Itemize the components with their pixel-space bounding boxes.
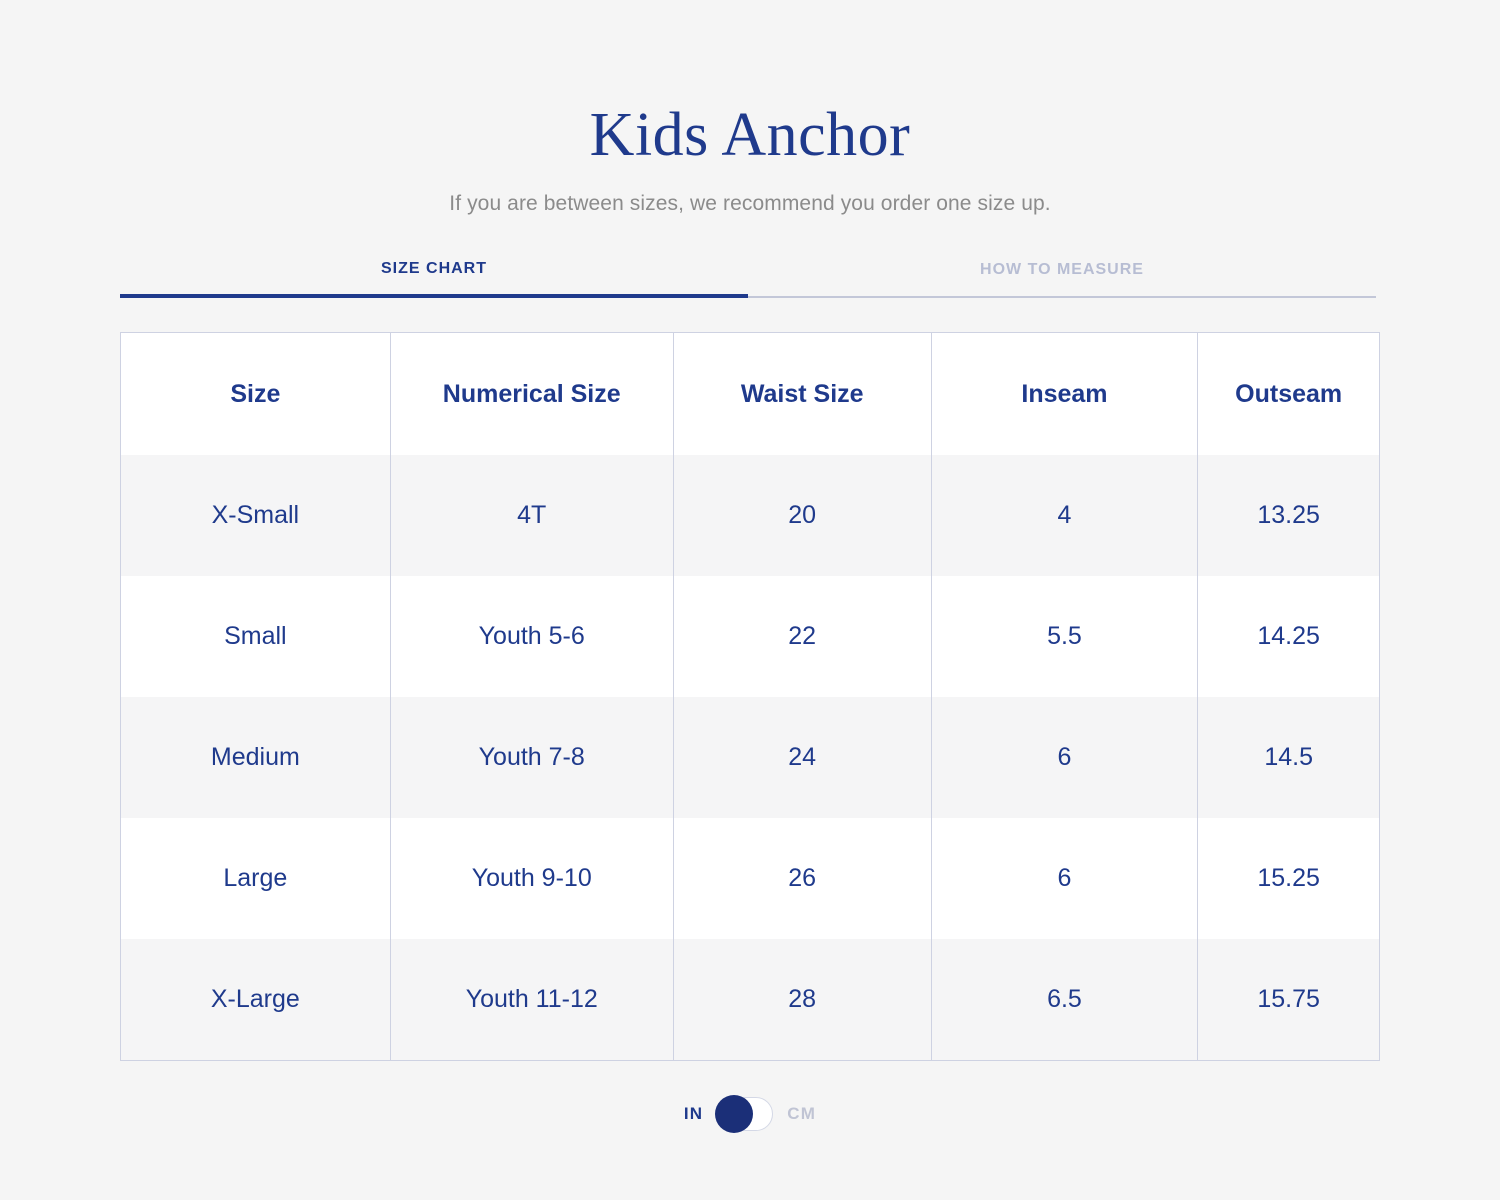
- column-header-size: Size: [121, 333, 390, 455]
- cell-inseam: 5.5: [931, 576, 1198, 697]
- cell-outseam: 15.75: [1198, 939, 1379, 1060]
- cell-size: Medium: [121, 697, 390, 818]
- column-header-waist-size: Waist Size: [673, 333, 931, 455]
- cell-waist-size: 20: [673, 455, 931, 576]
- table-head: Size Numerical Size Waist Size Inseam Ou…: [121, 333, 1379, 455]
- column-header-outseam: Outseam: [1198, 333, 1379, 455]
- toggle-knob-icon: [715, 1095, 753, 1133]
- cell-numerical-size: Youth 9-10: [390, 818, 673, 939]
- page-subtitle: If you are between sizes, we recommend y…: [0, 192, 1500, 216]
- cell-numerical-size: 4T: [390, 455, 673, 576]
- cell-waist-size: 28: [673, 939, 931, 1060]
- cell-outseam: 13.25: [1198, 455, 1379, 576]
- table-row: Large Youth 9-10 26 6 15.25: [121, 818, 1379, 939]
- cell-outseam: 14.5: [1198, 697, 1379, 818]
- unit-label-centimeters[interactable]: CM: [787, 1104, 816, 1124]
- page-header: Kids Anchor If you are between sizes, we…: [0, 0, 1500, 216]
- cell-numerical-size: Youth 5-6: [390, 576, 673, 697]
- page-title: Kids Anchor: [0, 104, 1500, 166]
- cell-inseam: 6: [931, 697, 1198, 818]
- tab-how-to-measure[interactable]: HOW TO MEASURE: [748, 261, 1376, 298]
- cell-inseam: 6: [931, 818, 1198, 939]
- cell-waist-size: 22: [673, 576, 931, 697]
- cell-inseam: 4: [931, 455, 1198, 576]
- size-chart-table-container: Size Numerical Size Waist Size Inseam Ou…: [120, 332, 1380, 1061]
- cell-waist-size: 24: [673, 697, 931, 818]
- size-chart-page: Kids Anchor If you are between sizes, we…: [0, 0, 1500, 1200]
- unit-toggle[interactable]: IN CM: [0, 1097, 1500, 1131]
- cell-size: X-Small: [121, 455, 390, 576]
- unit-toggle-switch[interactable]: [717, 1097, 773, 1131]
- cell-outseam: 14.25: [1198, 576, 1379, 697]
- cell-outseam: 15.25: [1198, 818, 1379, 939]
- table-body: X-Small 4T 20 4 13.25 Small Youth 5-6 22…: [121, 455, 1379, 1060]
- table-row: X-Large Youth 11-12 28 6.5 15.75: [121, 939, 1379, 1060]
- cell-size: X-Large: [121, 939, 390, 1060]
- table-row: Medium Youth 7-8 24 6 14.5: [121, 697, 1379, 818]
- cell-numerical-size: Youth 7-8: [390, 697, 673, 818]
- cell-size: Small: [121, 576, 390, 697]
- cell-numerical-size: Youth 11-12: [390, 939, 673, 1060]
- size-chart-table: Size Numerical Size Waist Size Inseam Ou…: [121, 333, 1379, 1060]
- column-header-inseam: Inseam: [931, 333, 1198, 455]
- cell-waist-size: 26: [673, 818, 931, 939]
- tab-size-chart[interactable]: SIZE CHART: [120, 260, 748, 298]
- cell-size: Large: [121, 818, 390, 939]
- table-row: Small Youth 5-6 22 5.5 14.25: [121, 576, 1379, 697]
- table-row: X-Small 4T 20 4 13.25: [121, 455, 1379, 576]
- column-header-numerical-size: Numerical Size: [390, 333, 673, 455]
- cell-inseam: 6.5: [931, 939, 1198, 1060]
- tab-bar: SIZE CHART HOW TO MEASURE: [120, 260, 1380, 298]
- table-header-row: Size Numerical Size Waist Size Inseam Ou…: [121, 333, 1379, 455]
- unit-label-inches[interactable]: IN: [684, 1104, 703, 1124]
